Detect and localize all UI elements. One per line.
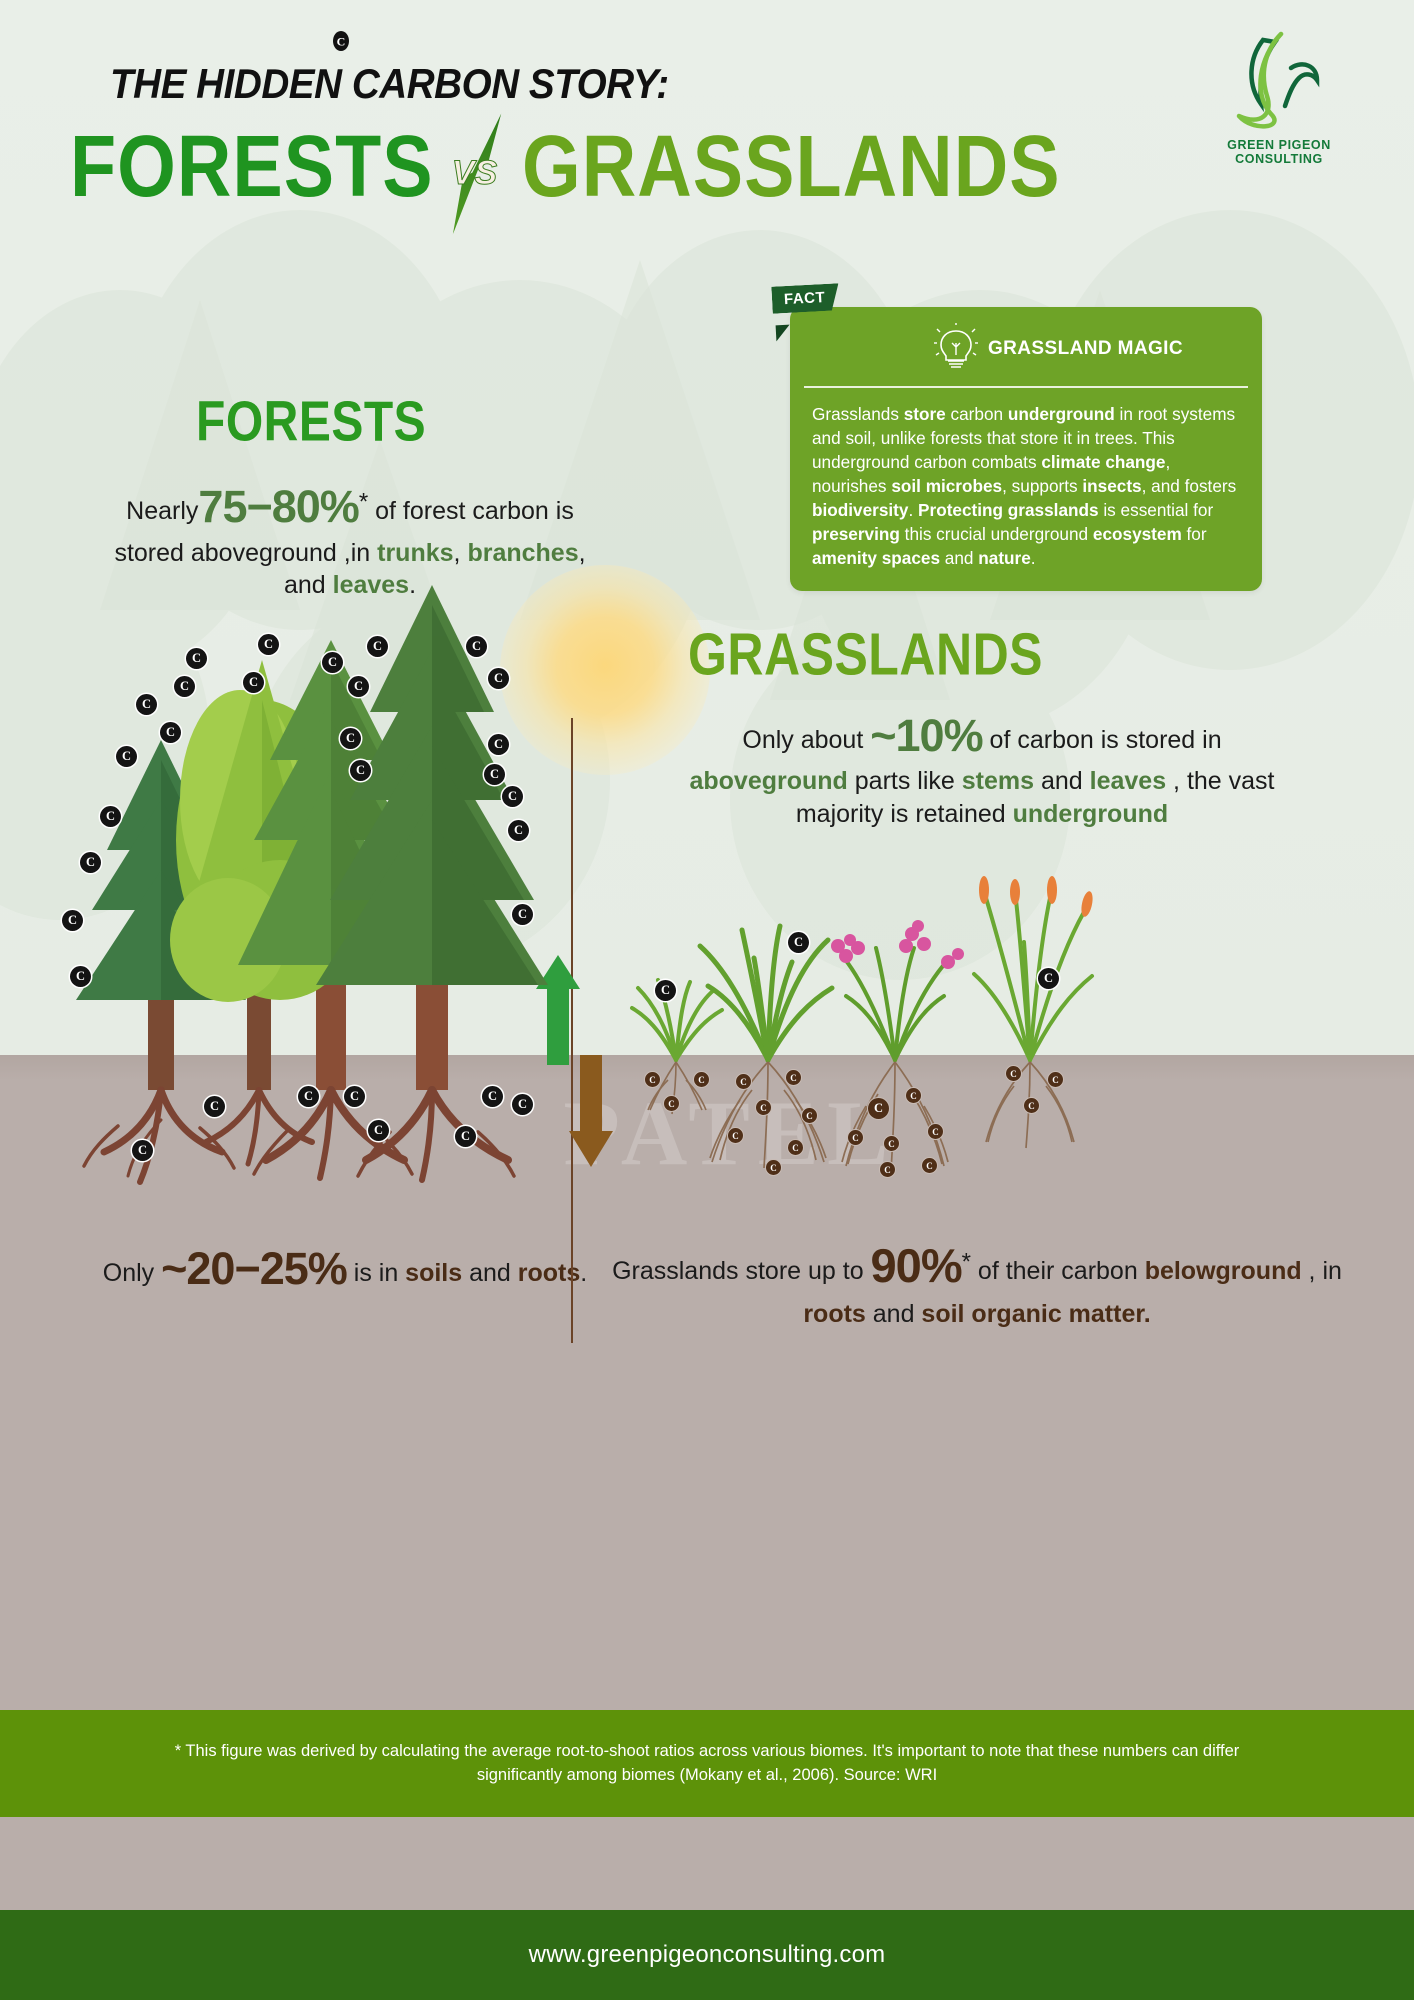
vs-badge: VS [426, 125, 522, 221]
carbon-dot: C [484, 764, 505, 785]
carbon-dot-small: C [880, 1162, 895, 1177]
carbon-dot: C [340, 728, 361, 749]
carbon-dot: C [298, 1086, 319, 1107]
carbon-dot: C [160, 722, 181, 743]
carbon-dot: C [868, 1098, 889, 1119]
carbon-dot: C [132, 1140, 153, 1161]
carbon-dot: C [136, 694, 157, 715]
section-heading-grasslands: GRASSLANDS [688, 620, 1043, 688]
carbon-dot: C [204, 1096, 225, 1117]
carbon-dot: C [243, 672, 264, 693]
svg-text:C: C [337, 35, 346, 49]
carbon-dot: C [502, 786, 523, 807]
website-url-bar[interactable]: www.greenpigeonconsulting.com [0, 1910, 1414, 2000]
carbon-dot: C [348, 676, 369, 697]
carbon-dot: C [508, 820, 529, 841]
carbon-dot-small: C [788, 1140, 803, 1155]
carbon-dot-small: C [928, 1124, 943, 1139]
bottom-spacer-bar [0, 1817, 1414, 1910]
carbon-dot: C [70, 966, 91, 987]
carbon-dot-small: C [884, 1136, 899, 1151]
vs-label: VS [452, 154, 497, 193]
footnote-text: * This figure was derived by calculating… [147, 1740, 1267, 1788]
carbon-dot: C [350, 760, 371, 781]
carbon-dot: C [258, 634, 279, 655]
infographic-page: PATEL C THE HIDDEN CARBON STORY: FORESTS… [0, 0, 1414, 2000]
carbon-dot: C [466, 636, 487, 657]
page-kicker-title: THE HIDDEN CARBON STORY: [110, 60, 669, 108]
fact-header: GRASSLAND MAGIC [804, 307, 1248, 388]
fact-title: GRASSLAND MAGIC [988, 338, 1183, 360]
grasslands-belowground-stat: Grasslands store up to 90%* of their car… [612, 1235, 1342, 1331]
carbon-dot-small: C [802, 1108, 817, 1123]
title-forests: FORESTS [70, 125, 434, 208]
footnote-bar: * This figure was derived by calculating… [0, 1710, 1414, 1817]
carbon-dot-small: C [906, 1088, 921, 1103]
carbon-dot-small: C [736, 1074, 751, 1089]
brand-logo[interactable]: GREEN PIGEON CONSULTING [1184, 22, 1374, 166]
carbon-dot-small: C [694, 1072, 709, 1087]
forests-aboveground-stat: Nearly75−80%* of forest carbon is stored… [100, 478, 600, 602]
title-grasslands: GRASSLANDS [522, 125, 1061, 208]
carbon-dot-small: C [756, 1100, 771, 1115]
website-url: www.greenpigeonconsulting.com [529, 1941, 886, 1969]
forests-belowground-stat: Only ~20−25% is in soils and roots. [95, 1240, 595, 1299]
carbon-dot-small: C [645, 1072, 660, 1087]
carbon-badge-icon: C [330, 30, 352, 52]
carbon-dot: C [116, 746, 137, 767]
fact-body-text: Grasslands store carbon underground in r… [790, 388, 1262, 591]
carbon-dot: C [174, 676, 195, 697]
page-title: FORESTS VS GRASSLANDS [70, 125, 1051, 221]
carbon-dot: C [368, 1120, 389, 1141]
carbon-dot-small: C [728, 1128, 743, 1143]
logo-wordmark: GREEN PIGEON CONSULTING [1184, 138, 1374, 166]
fact-callout-box: FACT GRASSLAND MAGIC Grasslands store ca… [790, 307, 1262, 591]
carbon-dot-small: C [664, 1096, 679, 1111]
carbon-dot: C [482, 1086, 503, 1107]
carbon-dot: C [62, 910, 83, 931]
carbon-dot: C [322, 652, 343, 673]
fact-ribbon-label: FACT [771, 283, 839, 313]
pink-flower [831, 920, 964, 969]
carbon-dot: C [100, 806, 121, 827]
carbon-dot-small: C [1006, 1066, 1021, 1081]
carbon-dot: C [80, 852, 101, 873]
carbon-dot-small: C [1048, 1072, 1063, 1087]
section-heading-forests: FORESTS [196, 390, 426, 455]
carbon-dot: C [186, 648, 207, 669]
carbon-dot: C [512, 1094, 533, 1115]
carbon-dot: C [512, 904, 533, 925]
carbon-dot: C [488, 734, 509, 755]
direction-arrows [536, 955, 616, 1175]
soil-ground-area [0, 1055, 1414, 1710]
carbon-dot: C [344, 1086, 365, 1107]
carbon-dot-small: C [786, 1070, 801, 1085]
carbon-dot-small: C [848, 1130, 863, 1145]
carbon-dot: C [367, 636, 388, 657]
carbon-dot: C [455, 1126, 476, 1147]
ribbon-tail [776, 325, 791, 342]
cattail-seedhead [979, 876, 1095, 918]
carbon-dot: C [488, 668, 509, 689]
pigeon-leaf-logo-icon [1219, 22, 1339, 134]
carbon-dot: C [788, 932, 809, 953]
down-arrow-icon [569, 1055, 613, 1167]
carbon-dot: C [1038, 968, 1059, 989]
carbon-dot-small: C [922, 1158, 937, 1173]
grasslands-aboveground-stat: Only about ~10% of carbon is stored in a… [672, 706, 1292, 831]
carbon-dot-small: C [1024, 1098, 1039, 1113]
up-arrow-icon [536, 955, 580, 1065]
carbon-dot: C [655, 980, 676, 1001]
carbon-dot-small: C [766, 1160, 781, 1175]
lightbulb-icon [934, 323, 978, 374]
